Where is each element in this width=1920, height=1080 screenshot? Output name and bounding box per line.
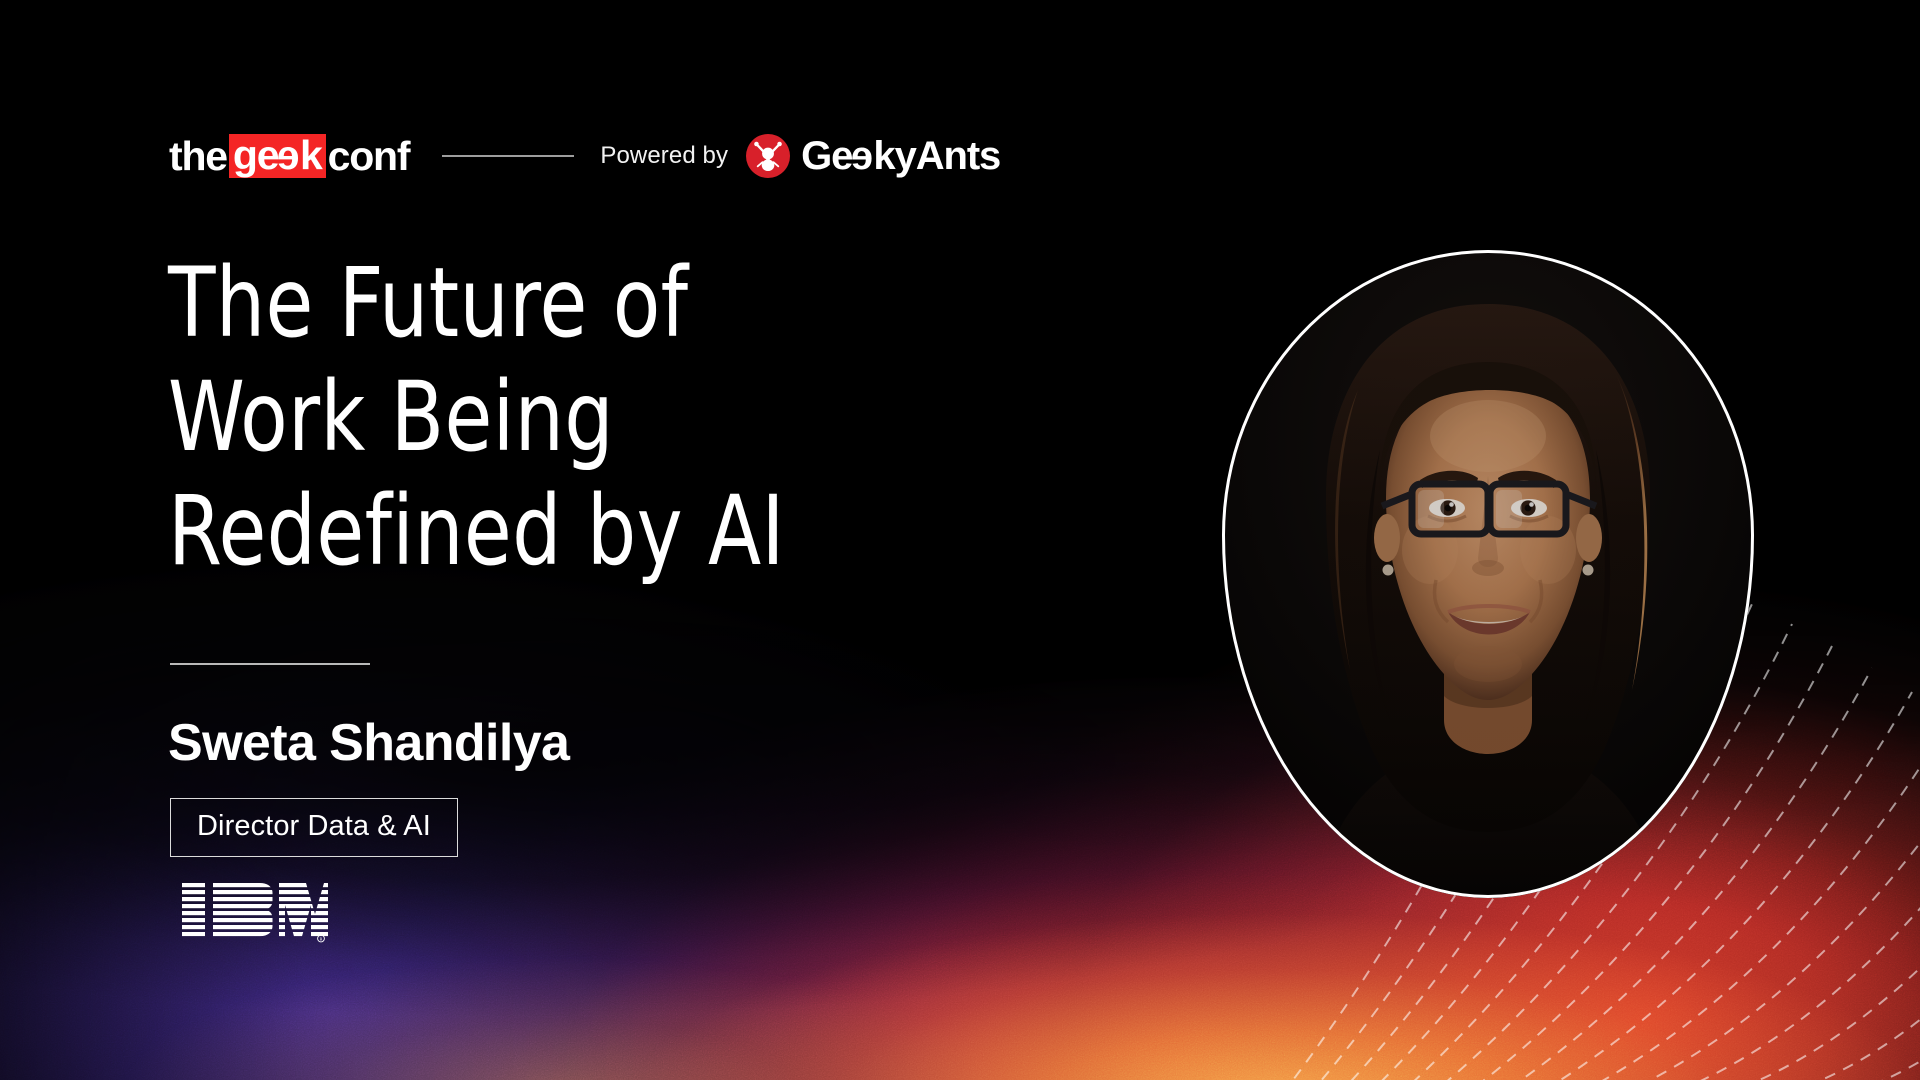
brand-part-the: the: [168, 136, 228, 177]
registered-trademark-icon: R: [318, 935, 325, 942]
speaker-photo-frame: [1222, 250, 1754, 898]
speaker-portrait-photo: [1222, 250, 1754, 898]
speaker-name: Sweta Shandilya: [168, 715, 569, 772]
company-name: IBM: [0, 0, 1, 1]
geekyants-logo[interactable]: GeekyAnts: [746, 134, 1000, 178]
brand-part-geek-highlight: geek: [229, 134, 326, 179]
page-title: The Future of Work Being Redefined by AI: [168, 246, 996, 589]
geekyants-wordmark: GeekyAnts: [801, 136, 1000, 176]
horizontal-rule-icon: [442, 155, 574, 157]
poster-canvas: the geek conf Powered by: [0, 0, 1920, 1080]
thegeekconf-logo[interactable]: the geek conf: [168, 134, 410, 179]
brand-part-conf: conf: [327, 136, 411, 177]
speaker-role-badge: Director Data & AI: [170, 798, 458, 857]
geekyants-ant-icon: [746, 134, 790, 178]
ibm-logo-icon: R: [182, 881, 328, 943]
speaker-photo-clip: [1222, 250, 1754, 898]
svg-text:R: R: [320, 936, 323, 941]
title-divider-rule: [170, 663, 370, 665]
header-lockup: the geek conf Powered by: [168, 128, 1000, 184]
powered-by-label: Powered by: [600, 142, 728, 170]
